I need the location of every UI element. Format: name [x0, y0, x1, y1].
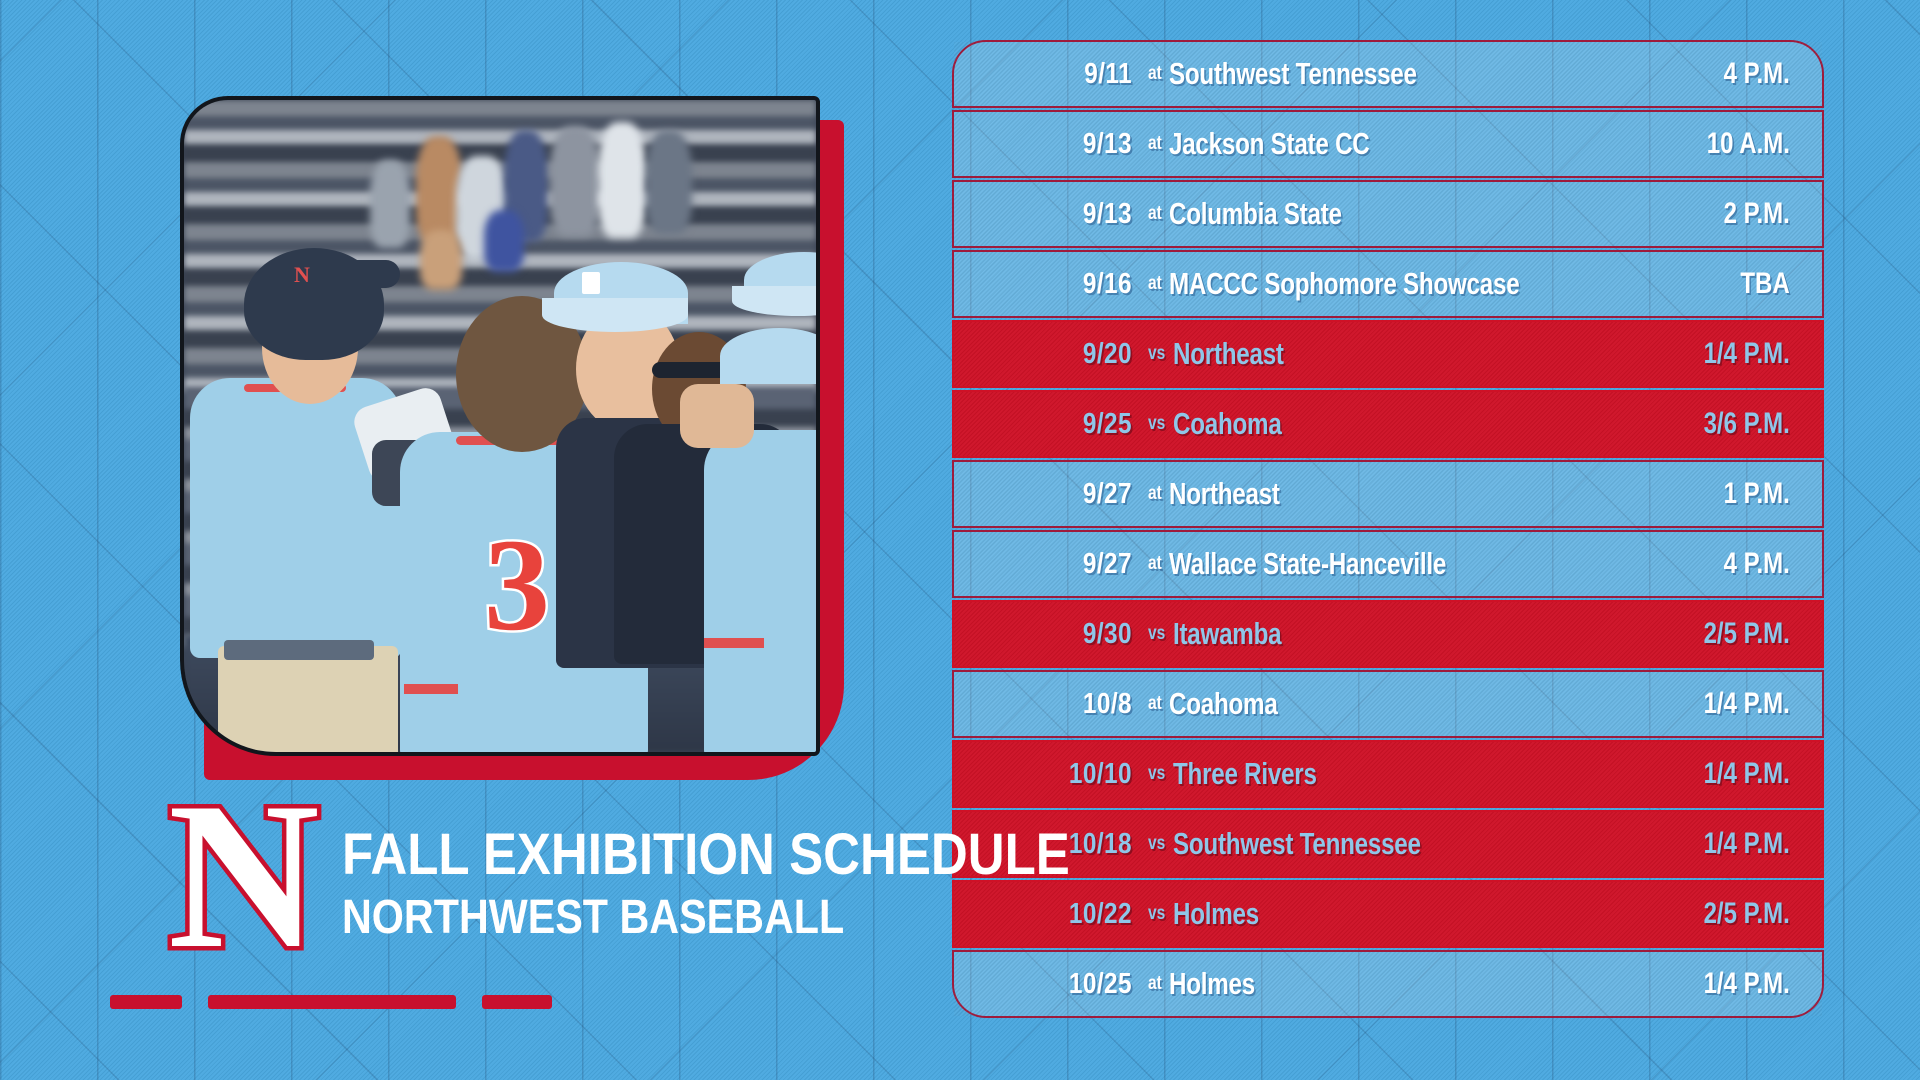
crowd-person [598, 122, 646, 238]
game-location-prefix: at [1148, 973, 1162, 995]
game-location-prefix: at [1148, 133, 1162, 155]
game-date: 9/27 [1006, 478, 1132, 511]
game-time: 2/5 P.M. [1704, 897, 1790, 931]
game-time: 1/4 P.M. [1704, 827, 1790, 861]
schedule-row: 9/20vsNortheast1/4 P.M. [952, 320, 1824, 388]
schedule-row: 9/30vsItawamba2/5 P.M. [952, 600, 1824, 668]
northwest-n-logo: N [168, 790, 320, 962]
opponent-name: Holmes [1169, 966, 1255, 1002]
opponent-name: Coahoma [1173, 406, 1282, 442]
game-date: 10/8 [1006, 688, 1132, 721]
game-date: 9/16 [1006, 268, 1132, 301]
game-time: 1/4 P.M. [1704, 757, 1790, 791]
game-date: 9/13 [1006, 198, 1132, 231]
opponent-name: Wallace State-Hanceville [1169, 546, 1446, 582]
schedule-row: 9/27atWallace State-Hanceville4 P.M. [952, 530, 1824, 598]
opponent-name: Southwest Tennessee [1173, 826, 1421, 862]
game-time: 3/6 P.M. [1704, 407, 1790, 441]
game-time: TBA [1741, 267, 1790, 301]
schedule-graphic: N 3 [0, 0, 1920, 1080]
crowd-person [420, 230, 462, 290]
game-location-prefix: vs [1148, 343, 1165, 365]
decorative-dashes [110, 995, 578, 1009]
schedule-row: 10/8atCoahoma1/4 P.M. [952, 670, 1824, 738]
game-location-prefix: vs [1148, 413, 1165, 435]
opponent-name: Northeast [1173, 336, 1284, 372]
game-location-prefix: at [1148, 553, 1162, 575]
game-time: 2/5 P.M. [1704, 617, 1790, 651]
opponent-name: Northeast [1169, 476, 1280, 512]
schedule-row: 9/11atSouthwest Tennessee4 P.M. [952, 40, 1824, 108]
opponent-name: Itawamba [1173, 616, 1281, 652]
crowd-person [646, 130, 692, 234]
game-location-prefix: at [1148, 63, 1162, 85]
team-photo: N 3 [180, 96, 820, 756]
schedule-row: 9/25vsCoahoma3/6 P.M. [952, 390, 1824, 458]
game-time: 4 P.M. [1724, 57, 1790, 91]
title-block: N FALL EXHIBITION SCHEDULE NORTHWEST BAS… [168, 790, 1169, 962]
game-time: 10 A.M. [1707, 127, 1790, 161]
game-date: 9/25 [1006, 408, 1132, 441]
game-location-prefix: vs [1148, 763, 1165, 785]
title-text-group: FALL EXHIBITION SCHEDULE NORTHWEST BASEB… [342, 790, 1169, 942]
game-location-prefix: vs [1148, 623, 1165, 645]
game-time: 1/4 P.M. [1704, 687, 1790, 721]
schedule-row: 9/13atJackson State CC10 A.M. [952, 110, 1824, 178]
photo-block: N 3 [180, 96, 820, 756]
game-date: 9/20 [1006, 338, 1132, 371]
schedule-row: 9/16atMACCC Sophomore ShowcaseTBA [952, 250, 1824, 318]
game-time: 4 P.M. [1724, 547, 1790, 581]
page-title: FALL EXHIBITION SCHEDULE [342, 826, 1070, 884]
opponent-name: Coahoma [1169, 686, 1278, 722]
opponent-name: Three Rivers [1173, 756, 1317, 792]
game-location-prefix: at [1148, 483, 1162, 505]
decorative-dash [482, 995, 552, 1009]
decorative-dash [208, 995, 456, 1009]
opponent-name: Holmes [1173, 896, 1259, 932]
game-date: 9/11 [1006, 58, 1132, 91]
opponent-name: Columbia State [1169, 196, 1342, 232]
game-date: 9/30 [1006, 618, 1132, 651]
crowd-person [370, 160, 410, 248]
opponent-name: Southwest Tennessee [1169, 56, 1417, 92]
game-time: 1 P.M. [1724, 477, 1790, 511]
crowd-person [550, 126, 600, 236]
game-time: 2 P.M. [1724, 197, 1790, 231]
game-location-prefix: at [1148, 273, 1162, 295]
opponent-name: Jackson State CC [1169, 126, 1370, 162]
jersey-number: 3 [484, 508, 550, 661]
page-subtitle: NORTHWEST BASEBALL [342, 894, 1053, 942]
game-location-prefix: at [1148, 203, 1162, 225]
team-photo-art: N 3 [184, 100, 816, 752]
schedule-row: 9/27atNortheast1 P.M. [952, 460, 1824, 528]
opponent-name: MACCC Sophomore Showcase [1169, 266, 1519, 302]
game-date: 10/10 [1006, 758, 1132, 791]
crowd-person [484, 210, 524, 272]
game-time: 1/4 P.M. [1704, 967, 1790, 1001]
game-date: 9/27 [1006, 548, 1132, 581]
game-location-prefix: at [1148, 693, 1162, 715]
decorative-dash [110, 995, 182, 1009]
game-date: 9/13 [1006, 128, 1132, 161]
schedule-row: 9/13atColumbia State2 P.M. [952, 180, 1824, 248]
game-date: 10/25 [1006, 968, 1132, 1001]
game-time: 1/4 P.M. [1704, 337, 1790, 371]
